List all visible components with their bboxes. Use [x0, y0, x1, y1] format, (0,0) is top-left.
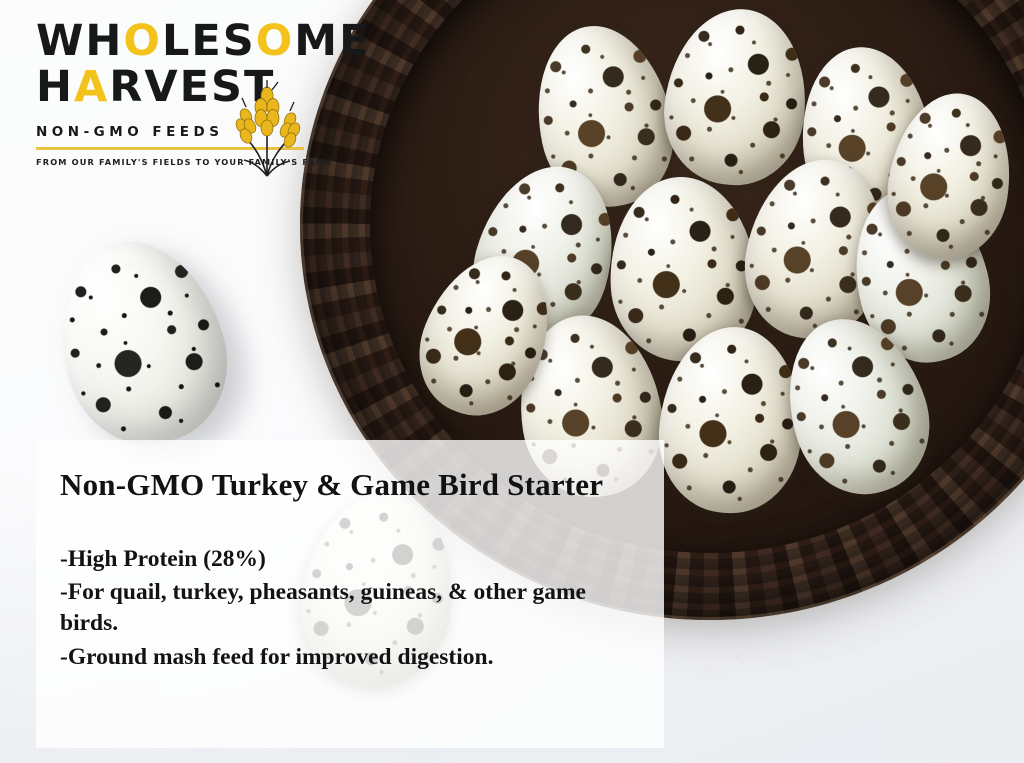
egg-in-basket [877, 85, 1021, 268]
feature-item: -Ground mash feed for improved digestion… [60, 642, 634, 673]
logo-line1-pre: WH [36, 16, 123, 66]
logo-wordmark-line1: WHOLESOME [36, 20, 316, 62]
poster-canvas: Non-GMO Turkey & Game Bird Starter -High… [0, 0, 1024, 763]
product-caption-panel: Non-GMO Turkey & Game Bird Starter -High… [36, 440, 664, 748]
product-feature-list: -High Protein (28%) -For quail, turkey, … [60, 544, 634, 673]
logo-line1-highlight-o: O [123, 16, 162, 66]
product-title: Non-GMO Turkey & Game Bird Starter [60, 466, 634, 504]
wheat-icon [226, 76, 308, 181]
feature-item: -For quail, turkey, pheasants, guineas, … [60, 577, 634, 640]
logo-line2-highlight-a: A [74, 62, 109, 112]
logo-line1-highlight-o2: O [256, 16, 295, 66]
feature-item: -High Protein (28%) [60, 544, 634, 575]
logo-line1-post: ME [294, 16, 370, 66]
logo-line1-mid: LES [162, 16, 256, 66]
logo-line2-pre: H [36, 62, 74, 112]
